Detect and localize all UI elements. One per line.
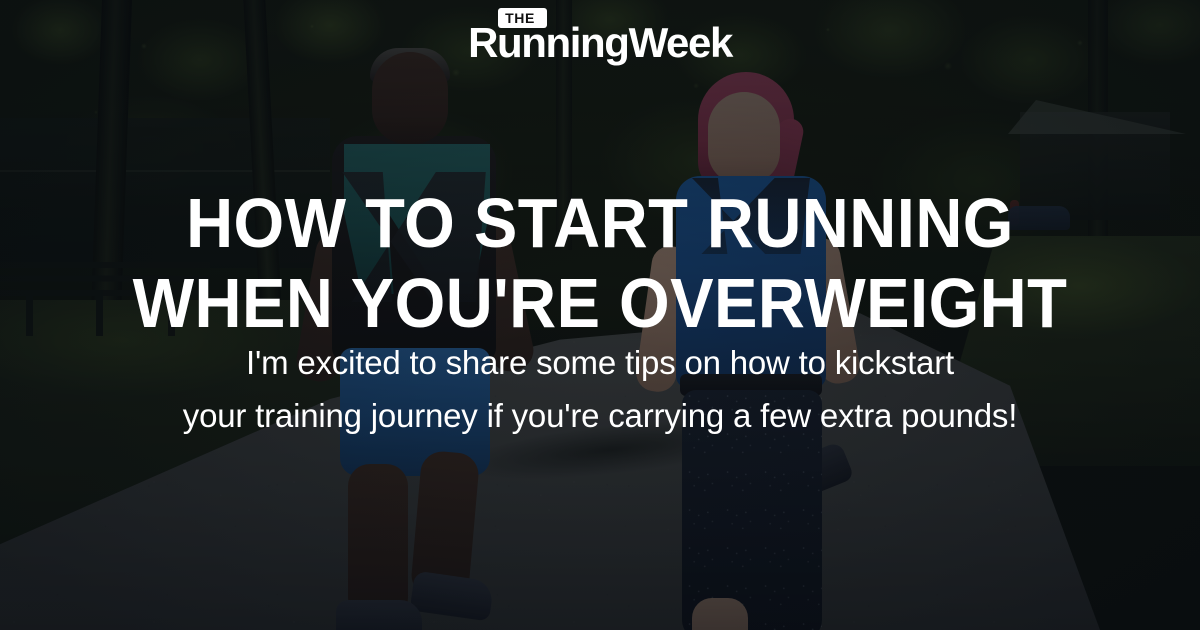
banner-content: RunningWeek THE HOW TO START RUNNING WHE… (0, 0, 1200, 630)
headline: HOW TO START RUNNING WHEN YOU'RE OVERWEI… (0, 183, 1200, 343)
site-logo-wordmark: RunningWeek (468, 22, 732, 64)
subtitle-line-2: your training journey if you're carrying… (0, 389, 1200, 442)
site-logo-the-badge: THE (498, 8, 547, 28)
headline-line-2: WHEN YOU'RE OVERWEIGHT (42, 263, 1158, 343)
social-share-banner: RunningWeek THE HOW TO START RUNNING WHE… (0, 0, 1200, 630)
subtitle-line-1: I'm excited to share some tips on how to… (0, 336, 1200, 389)
headline-line-1: HOW TO START RUNNING (42, 183, 1158, 263)
site-logo-r: R (468, 19, 497, 66)
site-logo-inner: RunningWeek THE (468, 22, 732, 64)
site-logo[interactable]: RunningWeek THE (0, 22, 1200, 64)
subtitle: I'm excited to share some tips on how to… (0, 336, 1200, 442)
site-logo-week: Week (629, 19, 732, 66)
